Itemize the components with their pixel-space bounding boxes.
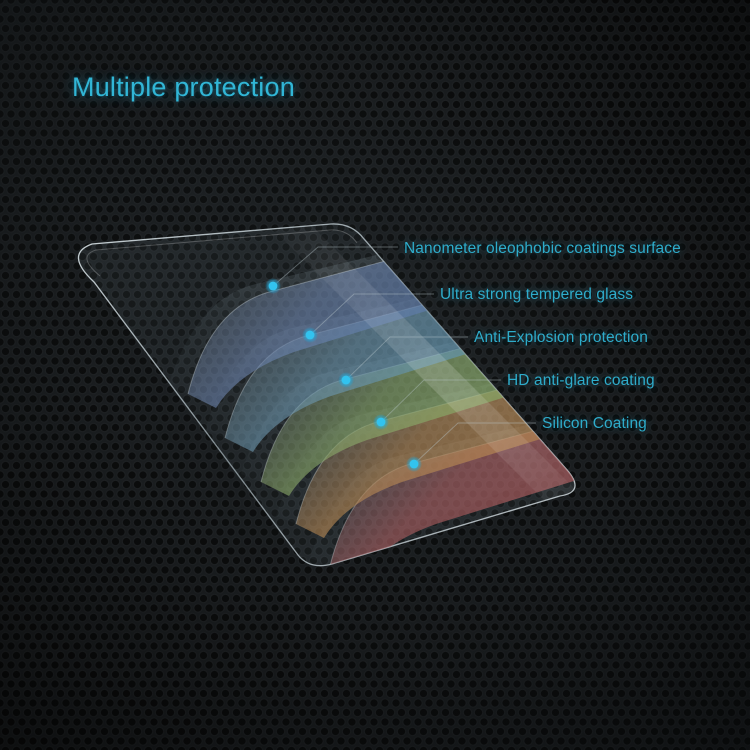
- callout-marker-dot[interactable]: [410, 460, 419, 469]
- illustration-canvas: Multiple protection: [0, 0, 750, 750]
- callout-marker-dot[interactable]: [269, 282, 278, 291]
- callout-label-nanometer: Nanometer oleophobic coatings surface: [404, 240, 681, 258]
- callout-marker-dot[interactable]: [377, 418, 386, 427]
- callout-marker-dot[interactable]: [306, 331, 315, 340]
- callout-label-hd-anti-glare: HD anti-glare coating: [507, 372, 655, 390]
- callout-marker-dot[interactable]: [342, 376, 351, 385]
- callout-label-anti-explosion: Anti-Explosion protection: [474, 329, 648, 347]
- callout-label-tempered-glass: Ultra strong tempered glass: [440, 286, 633, 304]
- callout-label-silicon-coating: Silicon Coating: [542, 415, 647, 433]
